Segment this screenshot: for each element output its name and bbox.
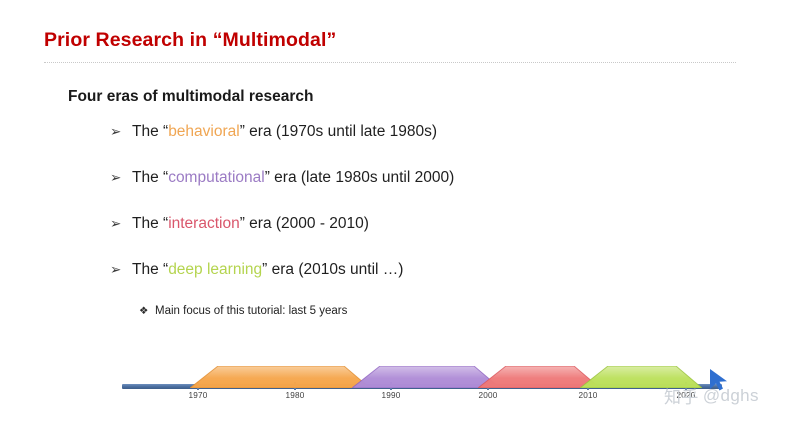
sub-bullet-item: ❖ Main focus of this tutorial: last 5 ye… [139, 305, 347, 317]
bullet-item-deep-learning: ➢The “deep learning” era (2010s until …) [110, 262, 750, 308]
bullet-item-computational: ➢The “computational” era (late 1980s unt… [110, 170, 750, 216]
bullet-suffix: ” era (2010s until …) [262, 261, 403, 278]
timeline-tick-label: 2010 [578, 391, 597, 400]
timeline-tick-label: 1990 [381, 391, 400, 400]
page-title: Prior Research in “Multimodal” [44, 29, 336, 52]
title-divider [44, 62, 736, 63]
era-band-deep-learning [580, 366, 702, 388]
bullet-label: The “deep learning” era (2010s until …) [132, 262, 403, 278]
bullet-keyword: computational [168, 169, 265, 186]
bullet-suffix: ” era (1970s until late 1980s) [240, 123, 437, 140]
era-band-behavioral [190, 366, 370, 388]
arrow-bullet-icon: ➢ [110, 217, 132, 231]
sub-bullet-label: Main focus of this tutorial: last 5 year… [155, 305, 347, 317]
bullet-label: The “interaction” era (2000 - 2010) [132, 216, 369, 232]
timeline-tick-label: 2020 [676, 391, 695, 400]
timeline-tick-label: 1970 [188, 391, 207, 400]
bullet-keyword: deep learning [168, 261, 262, 278]
bullet-label: The “behavioral” era (1970s until late 1… [132, 124, 437, 140]
bullet-item-behavioral: ➢The “behavioral” era (1970s until late … [110, 124, 750, 170]
bullet-prefix: The “ [132, 215, 168, 232]
bullet-prefix: The “ [132, 261, 168, 278]
bullet-suffix: ” era (2000 - 2010) [240, 215, 369, 232]
timeline-tick-label: 2000 [478, 391, 497, 400]
bullet-prefix: The “ [132, 169, 168, 186]
slide-canvas: Prior Research in “Multimodal” Four eras… [0, 0, 800, 427]
diamond-bullet-icon: ❖ [139, 305, 155, 317]
timeline-tick-label: 1980 [285, 391, 304, 400]
era-timeline: 197019801990200020102020 [0, 352, 800, 410]
bullet-label: The “computational” era (late 1980s unti… [132, 170, 454, 186]
bullet-list: ➢The “behavioral” era (1970s until late … [110, 124, 750, 308]
arrow-bullet-icon: ➢ [110, 171, 132, 185]
arrow-bullet-icon: ➢ [110, 263, 132, 277]
arrow-bullet-icon: ➢ [110, 125, 132, 139]
bullet-keyword: interaction [168, 215, 240, 232]
section-heading: Four eras of multimodal research [68, 88, 314, 106]
bullet-item-interaction: ➢The “interaction” era (2000 - 2010) [110, 216, 750, 262]
bullet-prefix: The “ [132, 123, 168, 140]
bullet-keyword: behavioral [168, 123, 240, 140]
bullet-suffix: ” era (late 1980s until 2000) [265, 169, 455, 186]
